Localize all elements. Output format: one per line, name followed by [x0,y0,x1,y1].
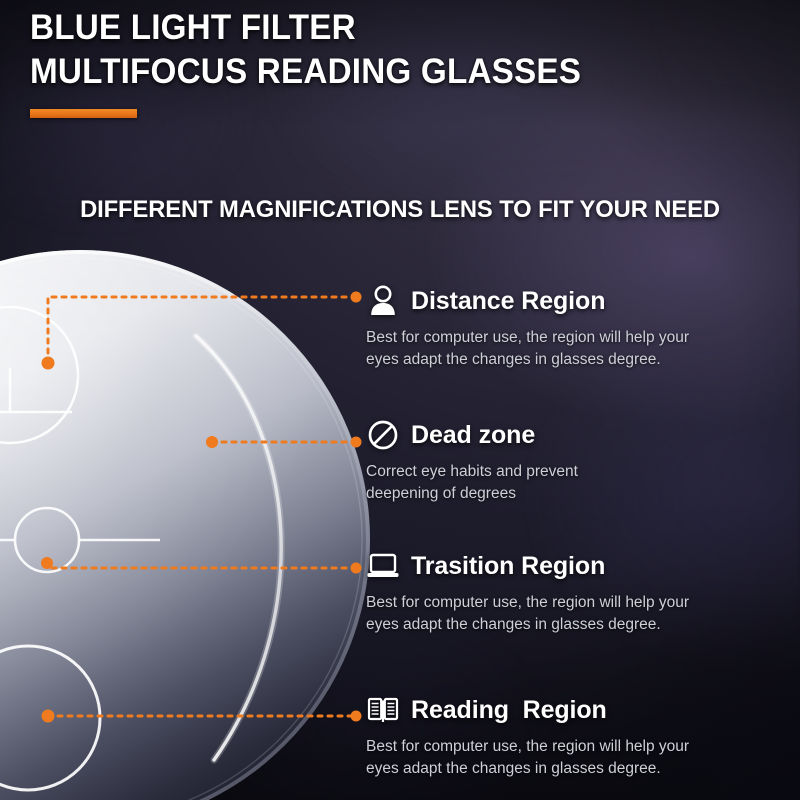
endpoint-dot-dead-zone [351,437,362,448]
accent-bar [30,109,137,118]
callout-body: Best for computer use, the region will h… [366,736,718,780]
callout-header: Trasition Region [366,546,736,586]
callout-header: Reading Region [366,690,736,730]
product-infographic: BLUE LIGHT FILTER MULTIFOCUS READING GLA… [0,0,800,800]
callout-dead-zone: Dead zone Correct eye habits and prevent… [366,415,736,505]
callout-body-line-1: Best for computer use, the region will h… [366,327,718,349]
endpoint-dot-distance [351,292,362,303]
person-icon [366,284,400,318]
endpoint-dot-transition [351,563,362,574]
callout-title: Distance Region [411,287,605,316]
anchor-dot-distance [42,357,55,370]
callout-title: Reading Region [411,696,607,725]
title-line-2: MULTIFOCUS READING GLASSES [30,50,733,94]
callout-header: Dead zone [366,415,736,455]
callout-header: Distance Region [366,281,736,321]
open-book-icon [366,693,400,727]
callout-body-line-1: Best for computer use, the region will h… [366,592,718,614]
callout-body-line-2: eyes adapt the changes in glasses degree… [366,349,718,371]
callout-reading-region: Reading Region Best for computer use, th… [366,690,736,780]
poster-header: BLUE LIGHT FILTER MULTIFOCUS READING GLA… [30,6,770,118]
callout-title: Dead zone [411,421,535,450]
callout-body: Correct eye habits and prevent deepening… [366,461,718,505]
callout-body: Best for computer use, the region will h… [366,327,718,371]
callout-body-line-2: eyes adapt the changes in glasses degree… [366,614,718,636]
callout-distance-region: Distance Region Best for computer use, t… [366,281,736,371]
endpoint-dot-reading [351,711,362,722]
callout-body: Best for computer use, the region will h… [366,592,718,636]
subtitle: DIFFERENT MAGNIFICATIONS LENS TO FIT YOU… [12,196,788,224]
callout-title: Trasition Region [411,552,605,581]
anchor-dot-reading [42,710,55,723]
callout-body-line-1: Best for computer use, the region will h… [366,736,718,758]
prohibited-icon [366,418,400,452]
title-line-1: BLUE LIGHT FILTER [30,6,733,50]
callout-body-line-1: Correct eye habits and prevent [366,461,718,483]
callout-transition-region: Trasition Region Best for computer use, … [366,546,736,636]
callout-body-line-2: deepening of degrees [366,483,718,505]
anchor-dot-transition [41,557,53,569]
anchor-dot-dead-zone [206,436,218,448]
laptop-icon [366,549,400,583]
lens-body [0,250,370,800]
lens-diagram [0,0,800,800]
callout-body-line-2: eyes adapt the changes in glasses degree… [366,758,718,780]
